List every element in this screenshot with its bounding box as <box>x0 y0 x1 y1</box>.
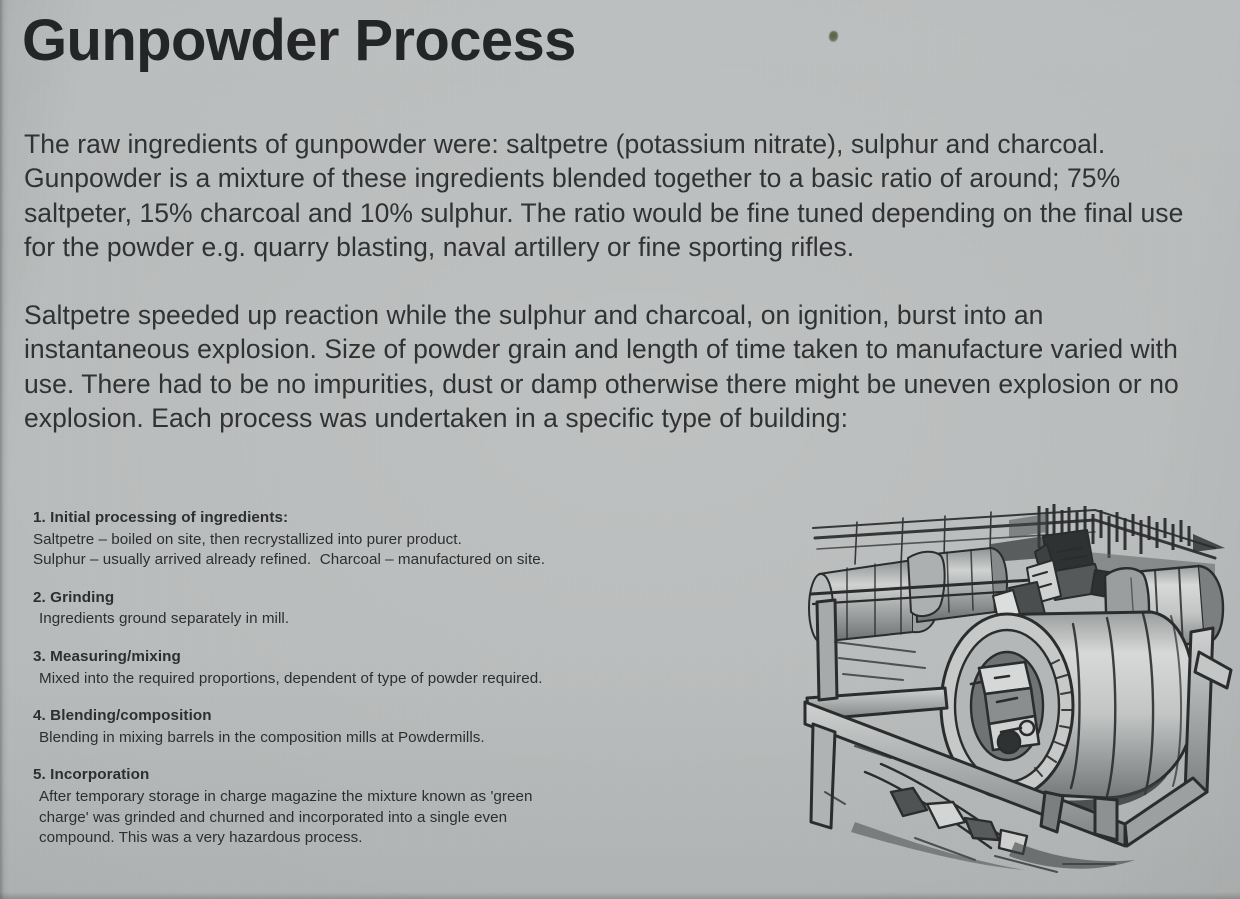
interpretation-sign: Gunpowder Process The raw ingredients of… <box>0 0 1240 899</box>
process-steps-list: 1. Initial processing of ingredients: Sa… <box>33 508 778 849</box>
list-item: 1. Initial processing of ingredients: Sa… <box>33 508 778 571</box>
step-body: Ingredients ground separately in mill. <box>33 609 778 630</box>
step-body-line: Sulphur – usually arrived already refine… <box>33 550 778 571</box>
step-body: Blending in mixing barrels in the compos… <box>33 728 778 749</box>
step-title: 5. Incorporation <box>33 765 778 786</box>
list-item: 5. Incorporation After temporary storage… <box>33 765 778 848</box>
step-body: After temporary storage in charge magazi… <box>33 787 778 849</box>
step-body-line: Saltpetre – boiled on site, then recryst… <box>33 530 778 551</box>
step-body-line: charge' was grinded and churned and inco… <box>39 808 778 829</box>
paragraph-2: Saltpetre speeded up reaction while the … <box>24 298 1184 435</box>
debris-speck <box>829 31 838 42</box>
list-item: 2. Grinding Ingredients ground separatel… <box>33 588 778 630</box>
page-title: Gunpowder Process <box>22 11 576 72</box>
step-body-line: Ingredients ground separately in mill. <box>39 609 778 630</box>
step-title: 1. Initial processing of ingredients: <box>33 508 778 529</box>
step-body: Mixed into the required proportions, dep… <box>33 669 778 690</box>
paragraph-1: The raw ingredients of gunpowder were: s… <box>24 127 1184 264</box>
step-body-line: compound. This was a very hazardous proc… <box>39 828 778 849</box>
sign-left-edge-shadow <box>0 0 9 899</box>
sign-bottom-edge-shadow <box>0 892 1240 899</box>
list-item: 3. Measuring/mixing Mixed into the requi… <box>33 647 778 689</box>
step-body-line: After temporary storage in charge magazi… <box>39 787 778 808</box>
step-title: 3. Measuring/mixing <box>33 647 778 668</box>
body-copy: The raw ingredients of gunpowder were: s… <box>24 127 1184 435</box>
step-title: 2. Grinding <box>33 588 778 609</box>
list-item: 4. Blending/composition Blending in mixi… <box>33 706 778 748</box>
step-body-line: Blending in mixing barrels in the compos… <box>39 728 778 749</box>
step-body: Saltpetre – boiled on site, then recryst… <box>33 530 778 571</box>
incorporating-mill-illustration <box>795 492 1235 884</box>
step-title: 4. Blending/composition <box>33 706 778 727</box>
step-body-line: Mixed into the required proportions, dep… <box>39 669 778 690</box>
